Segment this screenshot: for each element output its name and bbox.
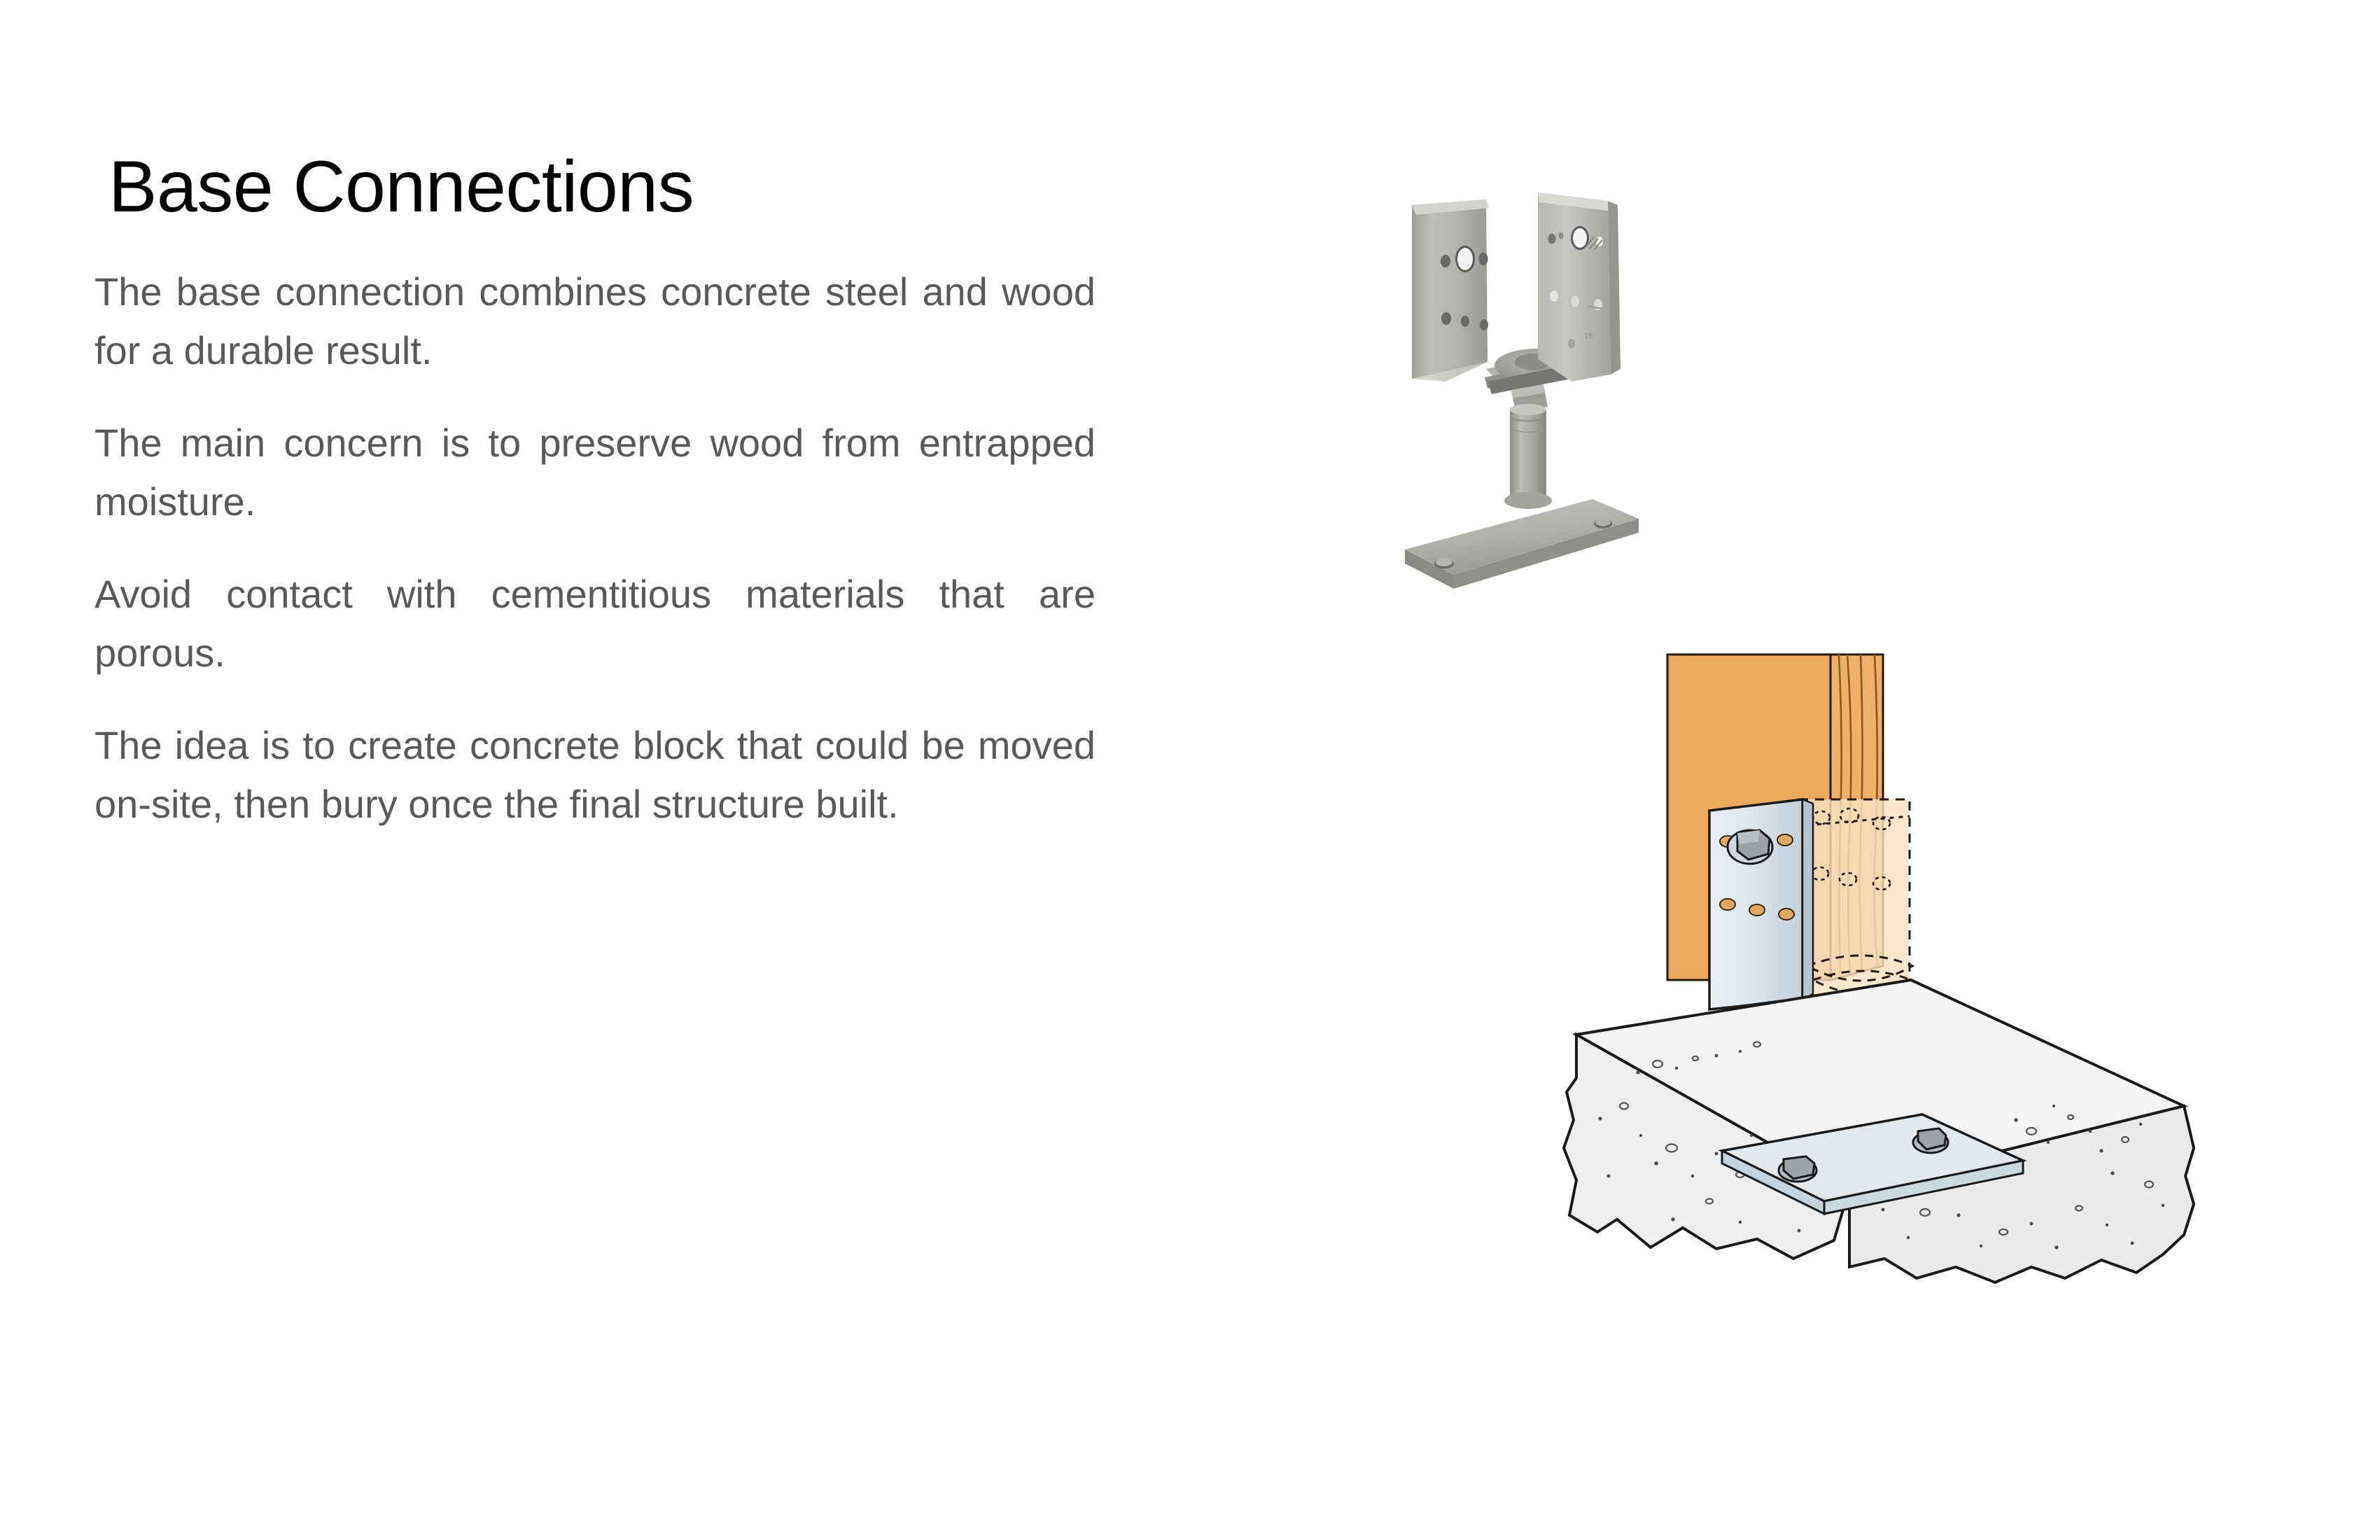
steel-bracket-plate: [1709, 799, 1813, 1009]
bracket-right-plate: 16: [1538, 192, 1620, 381]
anchor-bolt-back: [1913, 1128, 1948, 1153]
base-connection-diagram: [1533, 616, 2240, 1344]
bracket-left-plate: [1412, 199, 1489, 381]
post-base-photo: 16: [1361, 171, 1655, 612]
bracket-hex-bolt: [1728, 830, 1772, 864]
svg-text:16: 16: [1584, 332, 1592, 340]
body-paragraph-1: The base connection combines concrete st…: [94, 262, 1095, 380]
body-paragraph-4: The idea is to create concrete block tha…: [94, 716, 1095, 834]
hidden-bracket-outline: [1799, 799, 1912, 1008]
page-title: Base Connections: [94, 150, 1123, 223]
anchor-bolt-front: [1779, 1156, 1816, 1182]
slide-canvas: Base Connections The base connection com…: [0, 0, 2380, 1540]
base-plate: [1405, 499, 1639, 589]
body-paragraph-2: The main concern is to preserve wood fro…: [94, 414, 1095, 531]
text-content-column: Base Connections The base connection com…: [94, 150, 1123, 834]
threaded-rod: [1510, 404, 1546, 498]
body-paragraph-3: Avoid contact with cementitious material…: [94, 565, 1095, 682]
weld-collar: [1504, 492, 1552, 509]
